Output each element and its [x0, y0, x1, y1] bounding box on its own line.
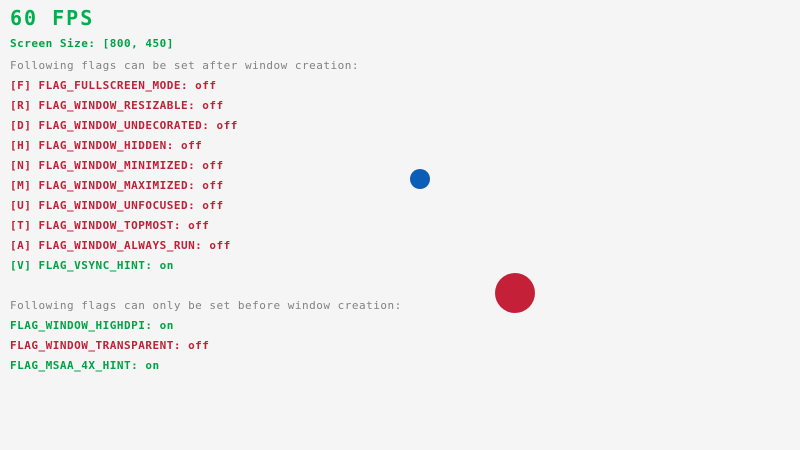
flag-row-flag-window-resizable[interactable]: [R] FLAG_WINDOW_RESIZABLE: off [10, 100, 224, 111]
flag-row-flag-window-minimized[interactable]: [N] FLAG_WINDOW_MINIMIZED: off [10, 160, 224, 171]
flag-row-flag-fullscreen-mode[interactable]: [F] FLAG_FULLSCREEN_MODE: off [10, 80, 217, 91]
flag-row-flag-vsync-hint[interactable]: [V] FLAG_VSYNC_HINT: on [10, 260, 174, 271]
flag-row-flag-msaa-4x-hint[interactable]: FLAG_MSAA_4X_HINT: on [10, 360, 160, 371]
bouncing-ball-red [495, 273, 535, 313]
section-header-after-creation: Following flags can be set after window … [10, 60, 359, 71]
application-canvas[interactable]: 60 FPS Screen Size: [800, 450] Following… [0, 0, 800, 450]
flag-row-flag-window-hidden[interactable]: [H] FLAG_WINDOW_HIDDEN: off [10, 140, 202, 151]
flag-row-flag-window-topmost[interactable]: [T] FLAG_WINDOW_TOPMOST: off [10, 220, 209, 231]
flag-row-flag-window-transparent[interactable]: FLAG_WINDOW_TRANSPARENT: off [10, 340, 209, 351]
flag-row-flag-window-undecorated[interactable]: [D] FLAG_WINDOW_UNDECORATED: off [10, 120, 238, 131]
flag-row-flag-window-highdpi[interactable]: FLAG_WINDOW_HIGHDPI: on [10, 320, 174, 331]
section-header-before-creation: Following flags can only be set before w… [10, 300, 402, 311]
flag-row-flag-window-maximized[interactable]: [M] FLAG_WINDOW_MAXIMIZED: off [10, 180, 224, 191]
flag-row-flag-window-unfocused[interactable]: [U] FLAG_WINDOW_UNFOCUSED: off [10, 200, 224, 211]
screen-size-label: Screen Size: [800, 450] [10, 38, 174, 49]
fps-counter: 60 FPS [10, 8, 94, 28]
flag-row-flag-window-always-run[interactable]: [A] FLAG_WINDOW_ALWAYS_RUN: off [10, 240, 231, 251]
bouncing-ball-blue [410, 169, 430, 189]
